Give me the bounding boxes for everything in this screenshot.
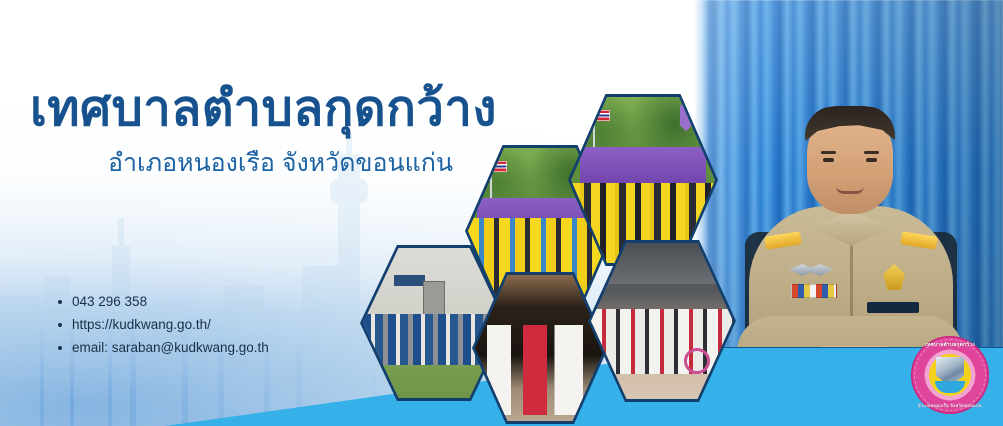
contact-email-label: email: saraban@kudkwang.go.th xyxy=(72,340,269,355)
service-ribbons xyxy=(791,284,837,298)
eye-left xyxy=(823,158,834,162)
wing-badge-icon xyxy=(789,264,833,276)
epaulet-right xyxy=(900,231,938,249)
collar-right xyxy=(851,212,895,246)
white-shirt-officials xyxy=(480,325,600,416)
seal-top-text: เทศบาลตำบลกุดกว้าง xyxy=(911,341,989,349)
contact-website-label: https://kudkwang.go.th/ xyxy=(72,317,211,332)
eyebrow-left xyxy=(821,151,836,154)
mouth xyxy=(836,186,864,194)
municipal-seal[interactable]: เทศบาลตำบลกุดกว้าง อำเภอหนองเรือ จังหวัด… xyxy=(911,336,989,414)
name-tag xyxy=(867,302,919,313)
collar-left xyxy=(807,212,851,246)
eyebrow-right xyxy=(864,151,879,154)
contact-item-phone[interactable]: 043 296 358 xyxy=(58,290,269,313)
contact-phone-label: 043 296 358 xyxy=(72,294,147,309)
seal-bottom-text: อำเภอหนองเรือ จังหวัดขอนแก่น xyxy=(911,402,989,409)
building-signboard xyxy=(394,275,425,286)
contact-item-website[interactable]: https://kudkwang.go.th/ xyxy=(58,313,269,336)
contact-item-email[interactable]: email: saraban@kudkwang.go.th xyxy=(58,336,269,359)
municipality-banner: เทศบาลตำบลกุดกว้าง อำเภอหนองเรือ จังหวัด… xyxy=(0,0,1003,426)
epaulet-left xyxy=(764,231,802,249)
page-title: เทศบาลตำบลกุดกว้าง xyxy=(30,82,630,137)
contact-list: 043 296 358 https://kudkwang.go.th/ emai… xyxy=(58,290,269,359)
eye-right xyxy=(866,158,877,162)
medal-icon xyxy=(883,264,905,290)
white-shirt-community-crowd xyxy=(591,309,733,375)
